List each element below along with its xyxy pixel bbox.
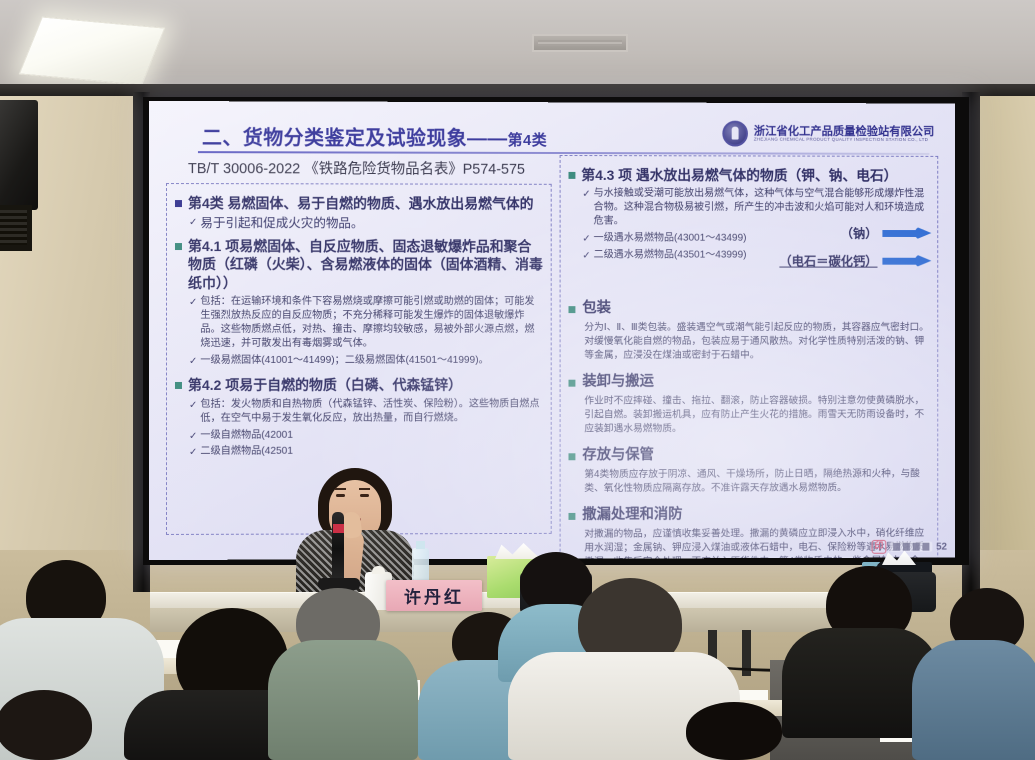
item-41-codes: 一级易燃固体(41001～41499)；二级易燃固体(41501～41999)。 [200,353,488,367]
company-logo: 浙江省化工产品质量检验站有限公司 ZHEJIANG CHEMICAL PRODU… [722,121,934,147]
name-plate: 许丹红 [386,580,482,611]
item-42-detail-row: ✓ 包括：发火物质和自热物质（代森锰锌、活性炭、保险粉）。这些物质自燃点低，在空… [175,397,543,425]
section-storage-label: 存放与保管 [582,443,654,464]
section-spill-label: 撒漏处理和消防 [582,503,682,524]
section-packaging-head: 包装 [568,296,929,317]
item-42-code1-row: ✓ 一级自燃物品(42001 [175,428,543,442]
square-bullet-icon [568,513,575,520]
toolbar-icon-2[interactable] [903,543,910,551]
section-handling-label: 装卸与搬运 [582,370,654,391]
page-title: 二、货物分类鉴定及试验现象——第4类 [202,121,547,151]
checkmark-icon: ✓ [189,355,197,366]
item-43-heading: 第4.3 项 遇水放出易燃气体的物质（钾、钠、电石） [581,166,897,185]
slide-content: 二、货物分类鉴定及试验现象——第4类 浙江省化工产品质量检验站有限公司 ZHEJ… [149,101,955,560]
logo-name-en: ZHEJIANG CHEMICAL PRODUCT QUALITY INSPEC… [754,137,934,142]
class4-heading: 第4类 易燃固体、易于自燃的物质、遇水放出易燃气体的 [188,194,534,213]
checkmark-icon: ✓ [189,218,197,229]
item-42-code2: 二级自燃物品(42501 [200,445,293,459]
slide-title-suffix: 第4类 [508,132,547,149]
presenter-eye-right [360,494,369,497]
packaging-text: 分为Ⅰ、Ⅱ、Ⅲ类包装。盛装遇空气或潮气能引起反应的物质，其容器应气密封口。对缓慢… [568,321,929,363]
checkmark-icon: ✓ [189,297,197,308]
item-41-detail: 包括：在运输环境和条件下容易燃烧或摩擦可能引燃或助燃的固体；可能发生强烈放热反应… [200,295,542,350]
square-bullet-icon [568,380,575,387]
page-number: 52 [936,541,947,552]
checkmark-icon: ✓ [189,431,197,442]
right-dashed-box: 第4.3 项 遇水放出易燃气体的物质（钾、钠、电石） ✓ 与水接触或受潮可能放出… [560,155,939,560]
slide-footer-badge: 印 52 [872,540,948,554]
toolbar-icon-3[interactable] [913,543,920,551]
item-41-heading: 第4.1 项易燃固体、自反应物质、固态退敏爆炸品和聚合物质（红磷（火柴）、含易燃… [188,237,543,293]
item-41-heading-row: 第4.1 项易燃固体、自反应物质、固态退敏爆炸品和聚合物质（红磷（火柴）、含易燃… [175,237,543,293]
square-bullet-icon [175,200,182,207]
overlay-toolbar-icons[interactable] [890,542,932,552]
square-bullet-icon [568,306,575,313]
conference-room-scene: 二、货物分类鉴定及试验现象——第4类 浙江省化工产品质量检验站有限公司 ZHEJ… [0,0,1035,760]
section-storage-head: 存放与保管 [568,443,929,464]
projection-screen: 二、货物分类鉴定及试验现象——第4类 浙江省化工产品质量检验站有限公司 ZHEJ… [149,101,955,560]
audience-torso [912,640,1035,760]
storage-text: 第4类物质应存放于阴凉、通风、干燥场所，防止日晒，隔绝热源和火种，与酸类、氧化性… [568,468,929,497]
item-42-heading: 第4.2 项易于自燃的物质（白磷、代森锰锌） [188,376,462,395]
presenter-brow-right [359,488,370,490]
audience-head [0,690,92,760]
toolbar-icon-4[interactable] [922,543,929,551]
logo-emblem-icon [722,121,748,147]
item-43-heading-row: 第4.3 项 遇水放出易燃气体的物质（钾、钠、电石） [568,166,929,185]
square-bullet-icon [568,172,575,179]
section-packaging-label: 包装 [582,296,611,317]
item-42-code2-row: ✓ 二级自燃物品(42501 [175,445,543,459]
arrow-callouts: （钠） （电石＝碳化钙） [759,214,932,270]
square-bullet-icon [568,453,575,460]
right-arrow-icon [882,253,931,267]
class4-check-row: ✓ 易于引起和促成火灾的物品。 [175,216,543,234]
checkmark-icon: ✓ [582,189,590,200]
arrow-label-carbide: （电石＝碳化钙） [779,251,877,270]
arrow-callout-carbide: （电石＝碳化钙） [759,251,932,270]
class4-check-text: 易于引起和促成火灾的物品。 [200,216,363,233]
item-42-detail: 包括：发火物质和自热物质（代森锰锌、活性炭、保险粉）。这些物质自燃点低，在空气中… [200,397,542,425]
presenter-eye-left [336,494,345,497]
item-41-codes-row: ✓ 一级易燃固体(41001～41499)；二级易燃固体(41501～41999… [175,353,543,367]
microphone-badge [333,524,344,533]
class4-heading-row: 第4类 易燃固体、易于自燃的物质、遇水放出易燃气体的 [175,194,543,213]
item-43-code1: 一级遇水易燃物品(43001～43499) [594,232,747,246]
checkmark-icon: ✓ [189,447,197,458]
ceiling-light-panel [19,16,166,85]
square-bullet-icon [175,382,182,389]
item-42-code1: 一级自燃物品(42001 [200,428,293,442]
section-spill-head: 撒漏处理和消防 [568,502,929,524]
speaker-bracket [0,205,32,251]
audience-torso [268,640,418,760]
slide-right-column: 第4.3 项 遇水放出易燃气体的物质（钾、钠、电石） ✓ 与水接触或受潮可能放出… [560,184,939,560]
slide-columns: 第4类 易燃固体、易于自燃的物质、遇水放出易燃气体的 ✓ 易于引起和促成火灾的物… [162,183,942,560]
handling-text: 作业时不应摔碰、撞击、拖拉、翻滚，防止容器破损。特别注意勿使黄磷脱水，引起自燃。… [568,394,929,436]
right-arrow-icon [882,226,931,240]
section-handling-head: 装卸与搬运 [568,370,929,391]
item-41-detail-row: ✓ 包括：在运输环境和条件下容易燃烧或摩擦可能引燃或助燃的固体；可能发生强烈放热… [175,295,543,350]
ceiling-air-vent-icon [532,34,628,52]
checkmark-icon: ✓ [189,400,197,411]
toolbar-icon-1[interactable] [893,543,900,551]
wall-speaker-icon [0,100,38,210]
seal-stamp-icon: 印 [872,540,887,554]
arrow-label-sodium: （钠） [841,223,878,242]
arrow-callout-sodium: （钠） [759,223,932,242]
slide-title-main: 二、货物分类鉴定及试验现象—— [202,127,508,150]
item-42-heading-row: 第4.2 项易于自燃的物质（白磷、代森锰锌） [175,376,543,395]
slide-title-row: 二、货物分类鉴定及试验现象——第4类 浙江省化工产品质量检验站有限公司 ZHEJ… [162,111,942,155]
presenter-brow-left [335,488,346,490]
name-plate-text: 许丹红 [404,583,464,608]
checkmark-icon: ✓ [582,234,590,245]
logo-text: 浙江省化工产品质量检验站有限公司 ZHEJIANG CHEMICAL PRODU… [754,125,934,142]
checkmark-icon: ✓ [582,250,590,261]
item-43-code2: 二级遇水易燃物品(43501～43999) [594,248,747,262]
square-bullet-icon [175,243,182,250]
audience-head [686,702,782,760]
